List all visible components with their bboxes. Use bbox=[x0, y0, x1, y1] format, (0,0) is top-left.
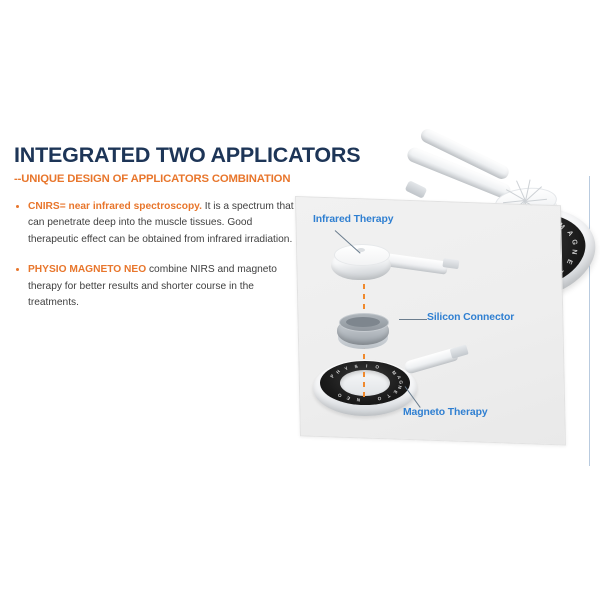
page-subtitle: --UNIQUE DESIGN OF APPLICATORS COMBINATI… bbox=[14, 173, 300, 185]
bullet-text: PHYSIO MAGNETO NEO combine NIRS and magn… bbox=[28, 262, 300, 312]
page-title: INTEGRATED TWO APPLICATORS bbox=[14, 144, 300, 167]
bullet-dot-icon bbox=[16, 268, 19, 271]
label-magneto-therapy: Magneto Therapy bbox=[403, 407, 488, 418]
bullet-lead: CNIRS= near infrared spectroscopy. bbox=[28, 201, 202, 212]
bullet-lead: PHYSIO MAGNETO NEO bbox=[28, 264, 146, 275]
alignment-axis-lower bbox=[363, 372, 365, 398]
text-column: INTEGRATED TWO APPLICATORS --UNIQUE DESI… bbox=[14, 144, 300, 326]
label-infrared-therapy: Infrared Therapy bbox=[313, 214, 393, 225]
leader-line-silicon bbox=[399, 319, 427, 320]
list-item: PHYSIO MAGNETO NEO combine NIRS and magn… bbox=[14, 262, 300, 312]
exploded-diagram-panel: PHYSIO MAGNETO NEO Infrared Therapy Sili… bbox=[295, 196, 585, 446]
silicon-connector-bore bbox=[346, 317, 380, 327]
panel-content: PHYSIO MAGNETO NEO Infrared Therapy Sili… bbox=[295, 196, 585, 446]
bullet-text: CNIRS= near infrared spectroscopy. It is… bbox=[28, 199, 300, 249]
list-item: CNIRS= near infrared spectroscopy. It is… bbox=[14, 199, 300, 249]
bullet-list: CNIRS= near infrared spectroscopy. It is… bbox=[14, 199, 300, 312]
alignment-axis-upper bbox=[363, 284, 365, 316]
magneto-applicator-handle-tip bbox=[450, 345, 469, 359]
slide-canvas: INTEGRATED TWO APPLICATORS --UNIQUE DESI… bbox=[0, 0, 600, 600]
bullet-dot-icon bbox=[16, 205, 19, 208]
infrared-applicator-part bbox=[331, 244, 397, 284]
silicon-connector-part bbox=[337, 313, 389, 349]
magneto-applicator-aperture bbox=[340, 370, 390, 396]
label-silicon-connector: Silicon Connector bbox=[427, 312, 514, 323]
